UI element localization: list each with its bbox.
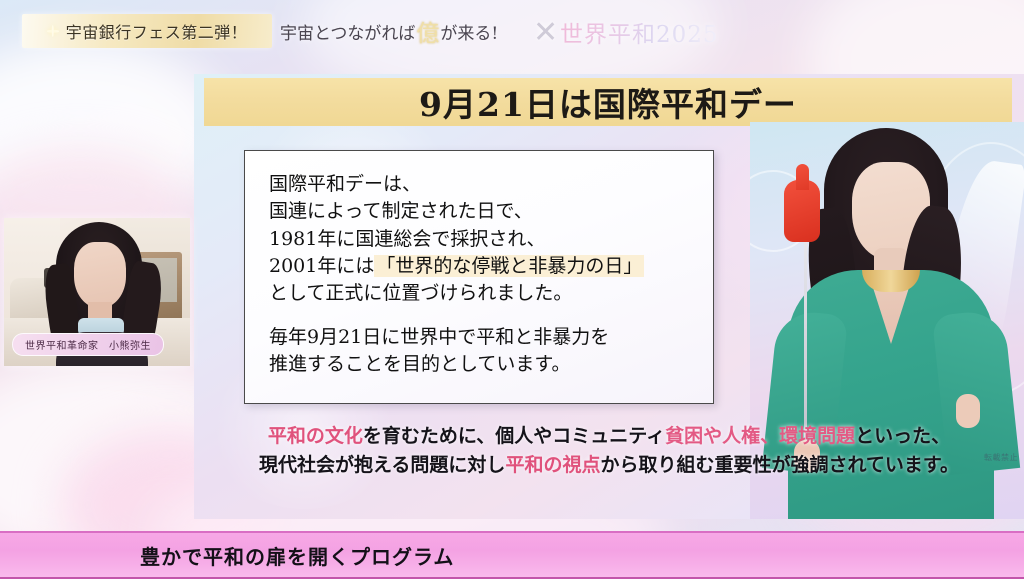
sparkle-icon — [47, 25, 59, 37]
bottom-banner: 豊かで平和の扉を開くプログラム — [0, 531, 1024, 579]
content-line: 毎年9月21日に世界中で平和と非暴力を — [269, 324, 695, 351]
webcam-name-tag: 世界平和革命家 小熊弥生 — [12, 333, 164, 356]
caption-line-2: 現代社会が抱える問題に対し平和の視点から取り組む重要性が強調されています。 — [200, 451, 1018, 480]
content-highlight: 「世界的な停戦と非暴力の日」 — [374, 255, 644, 277]
header-tagline-prefix: 宇宙とつながれば — [280, 19, 415, 44]
slide-title-band: 9月21日は国際平和デー — [204, 78, 1012, 126]
caption-accent-3: 平和の視点 — [505, 454, 600, 476]
caption-line-1: 平和の文化を育むために、個人やコミュニティ貧困や人権、環境問題といった、 — [200, 422, 1018, 451]
header-tagline-emphasis: 億 — [416, 14, 439, 48]
content-line: 1981年に国連総会で採択され、 — [269, 226, 695, 253]
festival-badge-label: 宇宙銀行フェス第二弾！ — [66, 19, 248, 43]
festival-badge: 宇宙銀行フェス第二弾！ — [22, 14, 272, 48]
content-line: 国連によって制定された日で、 — [269, 198, 695, 225]
caption-text-3: 現代社会が抱える問題に対し — [259, 454, 505, 476]
presentation-slide: 9月21日は国際平和デー 国際平和デーは、 国連によって制定された日で、 — [194, 74, 1024, 519]
content-line: 国際平和デーは、 — [269, 171, 695, 198]
broadcast-stage: 宇宙銀行フェス第二弾！ 宇宙とつながれば億が来る! ✕ 世界平和2025 9月2… — [0, 0, 1024, 579]
slide-title: 9月21日は国際平和デー — [419, 78, 797, 126]
header-tagline: 宇宙とつながれば億が来る! — [280, 16, 498, 46]
content-line: 推進することを目的としています。 — [269, 351, 695, 378]
caption-text-1: を育むために、個人やコミュニティ — [363, 425, 665, 447]
content-line: として正式に位置づけられました。 — [269, 280, 695, 307]
copyright-watermark: 転載禁止 — [984, 452, 1018, 463]
webcam-person-face — [74, 242, 126, 308]
pointing-hand-icon — [784, 180, 820, 242]
slide-content-box: 国際平和デーは、 国連によって制定された日で、 1981年に国連総会で採択され、… — [244, 150, 714, 404]
slide-caption: 平和の文化を育むために、個人やコミュニティ貧困や人権、環境問題といった、 現代社… — [200, 422, 1018, 481]
webcam-thumbnail[interactable]: 世界平和革命家 小熊弥生 — [4, 218, 190, 366]
content-line-prefix: 2001年には — [269, 255, 374, 277]
caption-text-2: といった、 — [855, 425, 950, 447]
caption-accent-1: 平和の文化 — [268, 425, 363, 447]
content-line-highlighted: 2001年には「世界的な停戦と非暴力の日」 — [269, 253, 695, 280]
header-tagline-suffix: が来る! — [440, 19, 498, 44]
top-header-bar: 宇宙銀行フェス第二弾！ 宇宙とつながれば億が来る! ✕ 世界平和2025 — [0, 14, 760, 56]
header-event-title: 世界平和2025 — [560, 16, 719, 48]
caption-accent-2: 貧困や人権、環境問題 — [665, 425, 855, 447]
header-separator-icon: ✕ — [533, 18, 558, 48]
caption-text-4: から取り組む重要性が強調されています。 — [600, 454, 959, 476]
bottom-banner-label: 豊かで平和の扉を開くプログラム — [140, 541, 454, 570]
